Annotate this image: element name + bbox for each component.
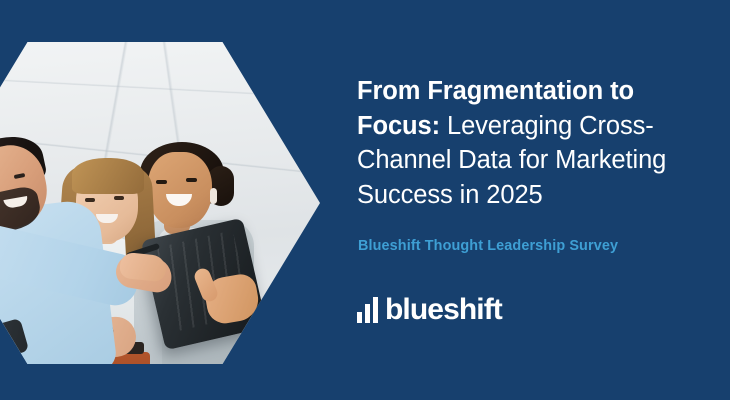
person-center-eye-right <box>114 196 124 200</box>
text-column: From Fragmentation to Focus: Leveraging … <box>357 0 717 400</box>
ascending-bars-icon <box>357 297 381 323</box>
blueshift-logo[interactable]: blueshift <box>357 295 502 325</box>
person-right-face <box>148 152 212 228</box>
person-center-hair-top <box>72 158 144 194</box>
hero-image-hexagon <box>0 42 320 364</box>
page-title: From Fragmentation to Focus: Leveraging … <box>357 74 697 212</box>
promo-banner: From Fragmentation to Focus: Leveraging … <box>0 0 730 400</box>
person-right-eye-left <box>156 180 167 184</box>
person-right-earring-right <box>210 188 217 204</box>
person-right-eye-right <box>186 178 197 182</box>
blueshift-wordmark: blueshift <box>385 295 502 325</box>
page-subtitle: Blueshift Thought Leadership Survey <box>358 238 618 254</box>
hero-image-illustration <box>0 42 320 364</box>
person-center-eye-left <box>85 198 95 202</box>
